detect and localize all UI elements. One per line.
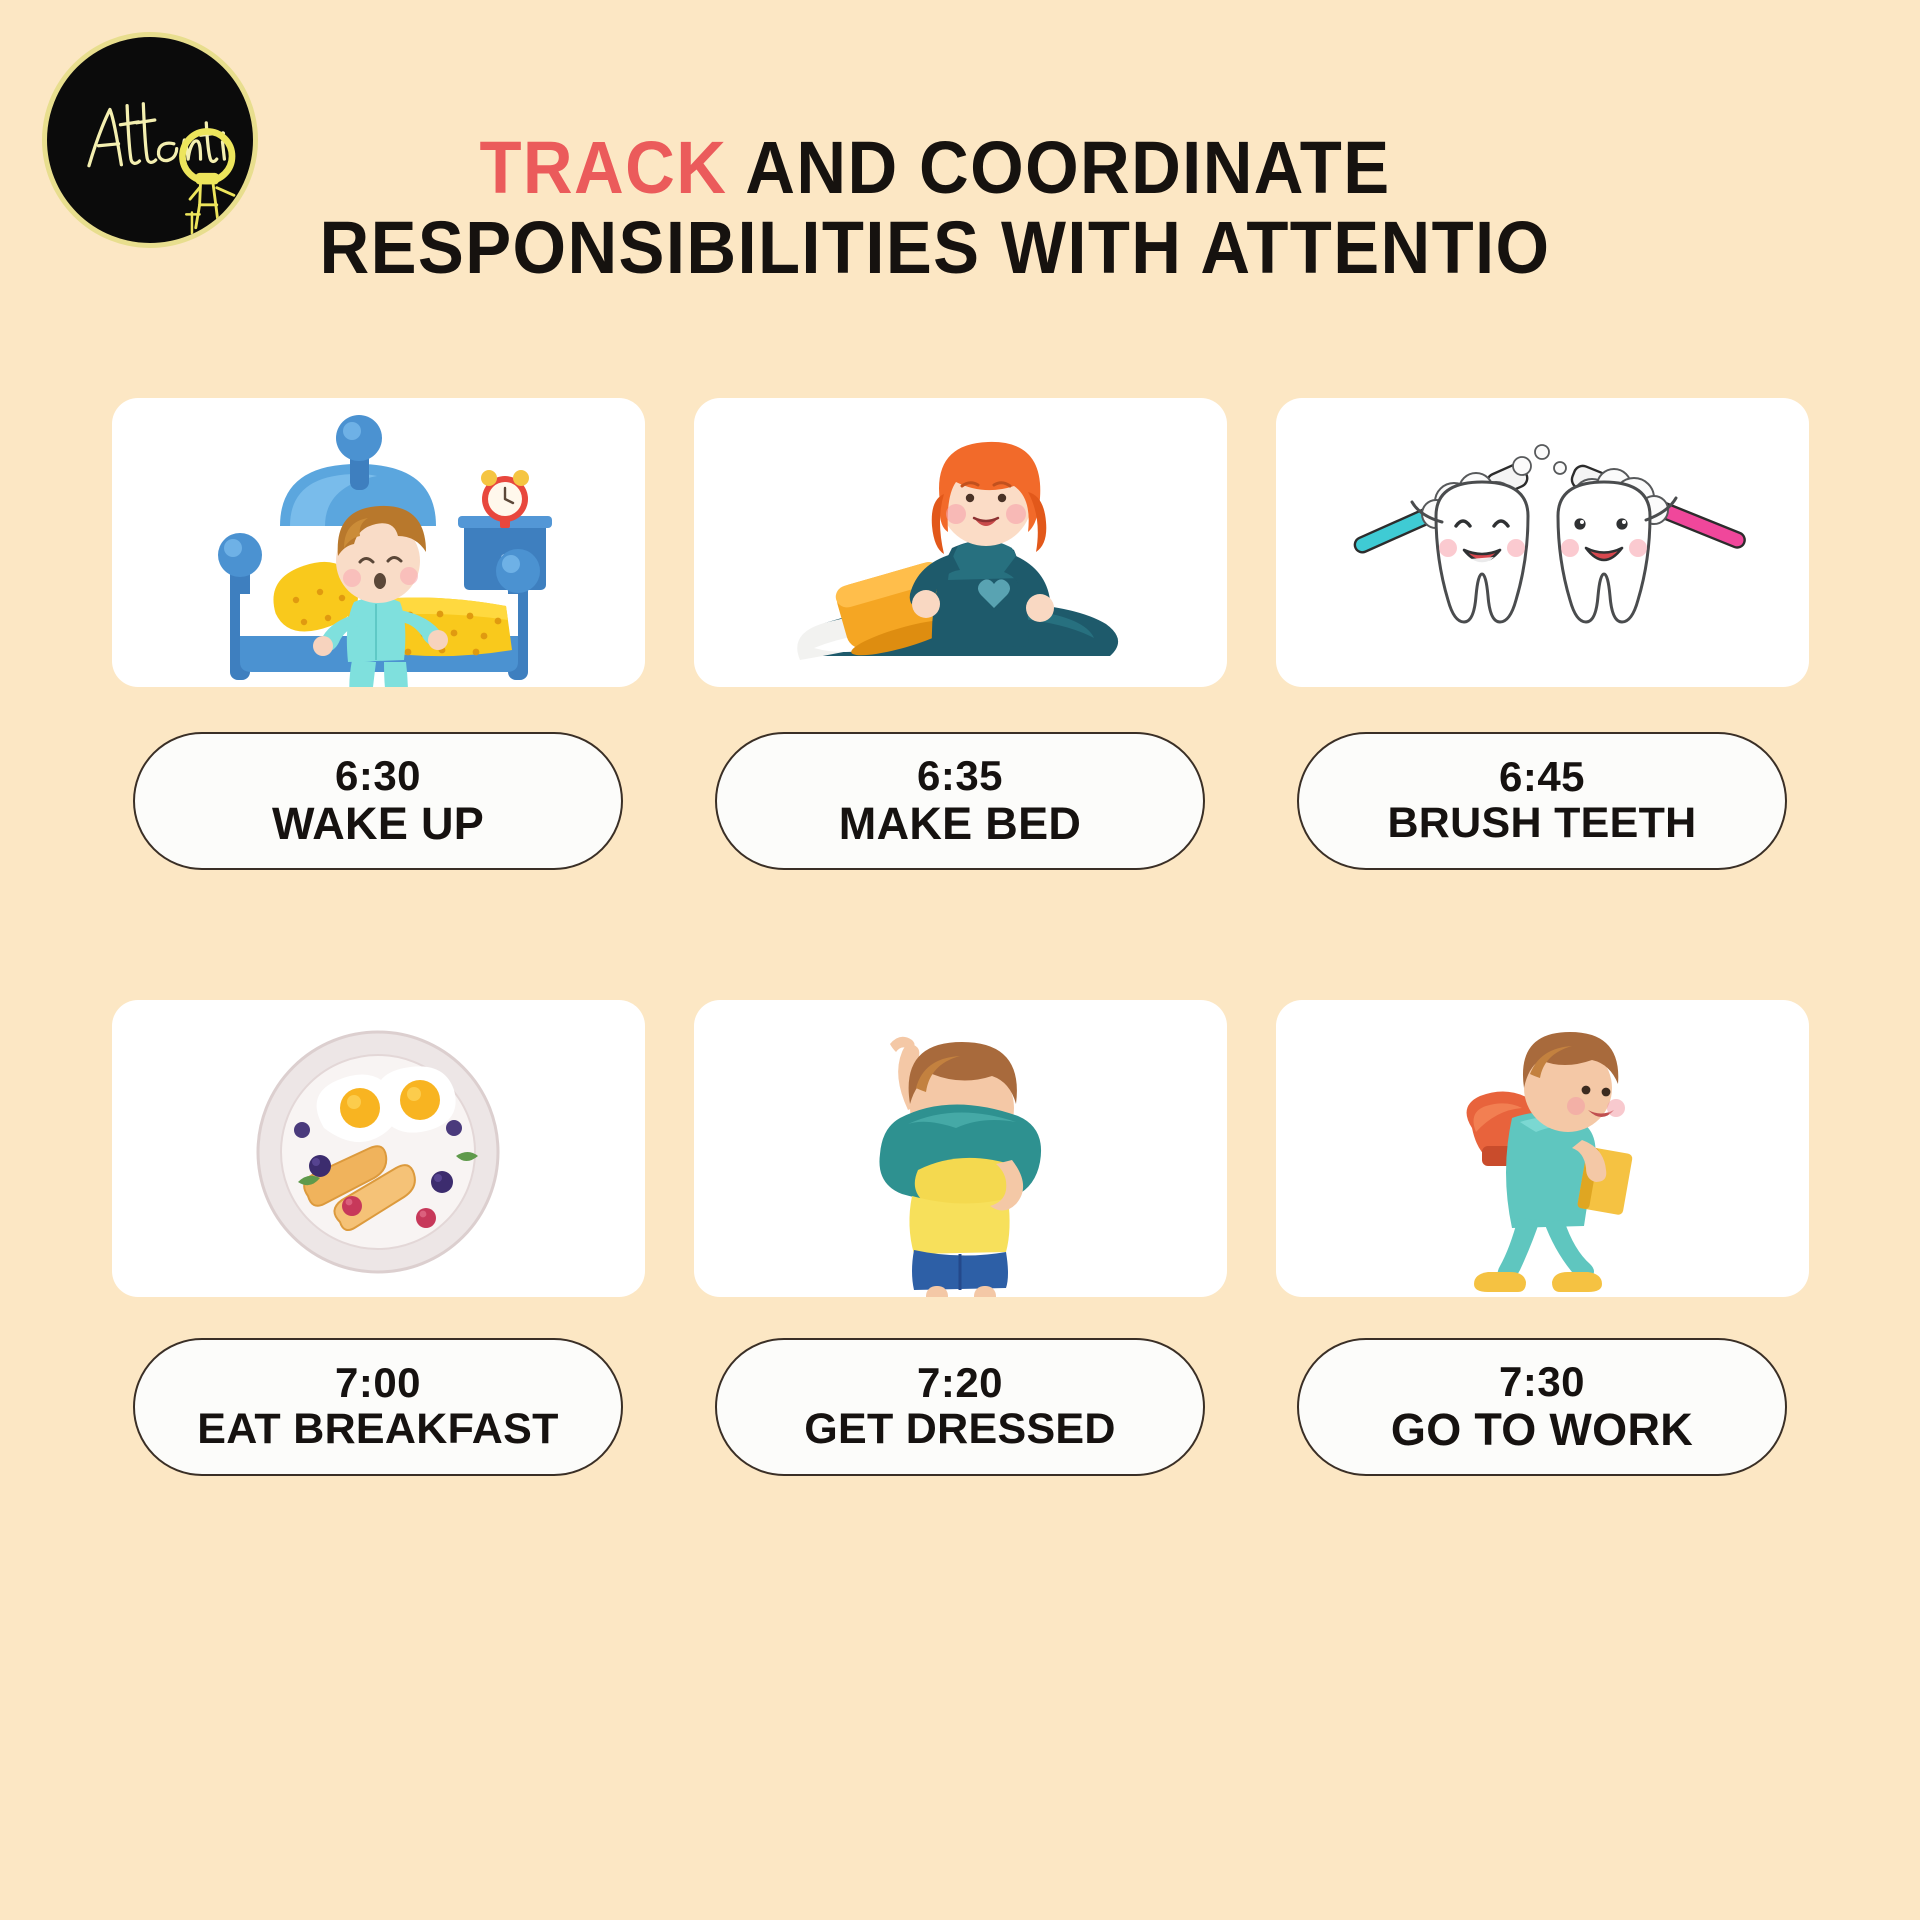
title-line-1-rest: AND COORDINATE bbox=[727, 126, 1390, 209]
schedule-item-go-to-work[interactable]: 7:30 GO TO WORK bbox=[1276, 1000, 1809, 1476]
schedule-task: WAKE UP bbox=[272, 800, 484, 847]
schedule-item-wake-up[interactable]: 6:30 WAKE UP bbox=[112, 398, 645, 870]
attentio-logo[interactable] bbox=[42, 32, 258, 248]
schedule-pill-brush-teeth[interactable]: 6:45 BRUSH TEETH bbox=[1297, 732, 1787, 870]
schedule-task: BRUSH TEETH bbox=[1387, 801, 1696, 846]
schedule-time: 6:35 bbox=[917, 754, 1003, 798]
schedule-pill-get-dressed[interactable]: 7:20 GET DRESSED bbox=[715, 1338, 1205, 1476]
schedule-item-brush-teeth[interactable]: 6:45 BRUSH TEETH bbox=[1276, 398, 1809, 870]
schedule-time: 7:00 bbox=[335, 1361, 421, 1405]
schedule-time: 6:30 bbox=[335, 754, 421, 798]
schedule-task: GET DRESSED bbox=[804, 1407, 1116, 1452]
schedule-item-get-dressed[interactable]: 7:20 GET DRESSED bbox=[694, 1000, 1227, 1476]
schedule-row-1: 6:30 WAKE UP bbox=[0, 398, 1920, 870]
schedule-task: GO TO WORK bbox=[1391, 1406, 1693, 1453]
attentio-logo-mark bbox=[47, 37, 253, 243]
schedule-task: EAT BREAKFAST bbox=[197, 1407, 558, 1452]
schedule-time: 6:45 bbox=[1499, 755, 1585, 799]
schedule-item-make-bed[interactable]: 6:35 MAKE BED bbox=[694, 398, 1227, 870]
schedule-card-wake-up[interactable] bbox=[112, 398, 645, 687]
schedule-pill-wake-up[interactable]: 6:30 WAKE UP bbox=[133, 732, 623, 870]
schedule-card-brush-teeth[interactable] bbox=[1276, 398, 1809, 687]
schedule-card-make-bed[interactable] bbox=[694, 398, 1227, 687]
page-title: TRACK AND COORDINATE RESPONSIBILITIES WI… bbox=[270, 128, 1600, 288]
girl-making-bed-illustration bbox=[694, 398, 1227, 687]
title-line-1: TRACK AND COORDINATE bbox=[317, 128, 1554, 208]
boy-putting-on-shirt-illustration bbox=[694, 1000, 1227, 1297]
schedule-item-eat-breakfast[interactable]: 7:00 EAT BREAKFAST bbox=[112, 1000, 645, 1476]
boy-walking-with-backpack-illustration bbox=[1276, 1000, 1809, 1297]
schedule-task: MAKE BED bbox=[839, 800, 1081, 847]
schedule-pill-go-to-work[interactable]: 7:30 GO TO WORK bbox=[1297, 1338, 1787, 1476]
schedule-pill-make-bed[interactable]: 6:35 MAKE BED bbox=[715, 732, 1205, 870]
schedule-grid: 6:30 WAKE UP bbox=[0, 398, 1920, 1476]
title-accent-word: TRACK bbox=[479, 126, 727, 209]
schedule-row-2: 7:00 EAT BREAKFAST bbox=[0, 1000, 1920, 1476]
schedule-time: 7:20 bbox=[917, 1361, 1003, 1405]
page-header: TRACK AND COORDINATE RESPONSIBILITIES WI… bbox=[0, 0, 1920, 380]
smiling-teeth-with-toothbrushes-illustration bbox=[1276, 398, 1809, 687]
child-waking-in-bed-illustration bbox=[112, 398, 645, 687]
schedule-card-eat-breakfast[interactable] bbox=[112, 1000, 645, 1297]
breakfast-plate-illustration bbox=[112, 1000, 645, 1297]
schedule-time: 7:30 bbox=[1499, 1360, 1585, 1404]
schedule-card-go-to-work[interactable] bbox=[1276, 1000, 1809, 1297]
title-line-2: RESPONSIBILITIES WITH ATTENTIO bbox=[317, 208, 1554, 288]
schedule-card-get-dressed[interactable] bbox=[694, 1000, 1227, 1297]
schedule-pill-eat-breakfast[interactable]: 7:00 EAT BREAKFAST bbox=[133, 1338, 623, 1476]
